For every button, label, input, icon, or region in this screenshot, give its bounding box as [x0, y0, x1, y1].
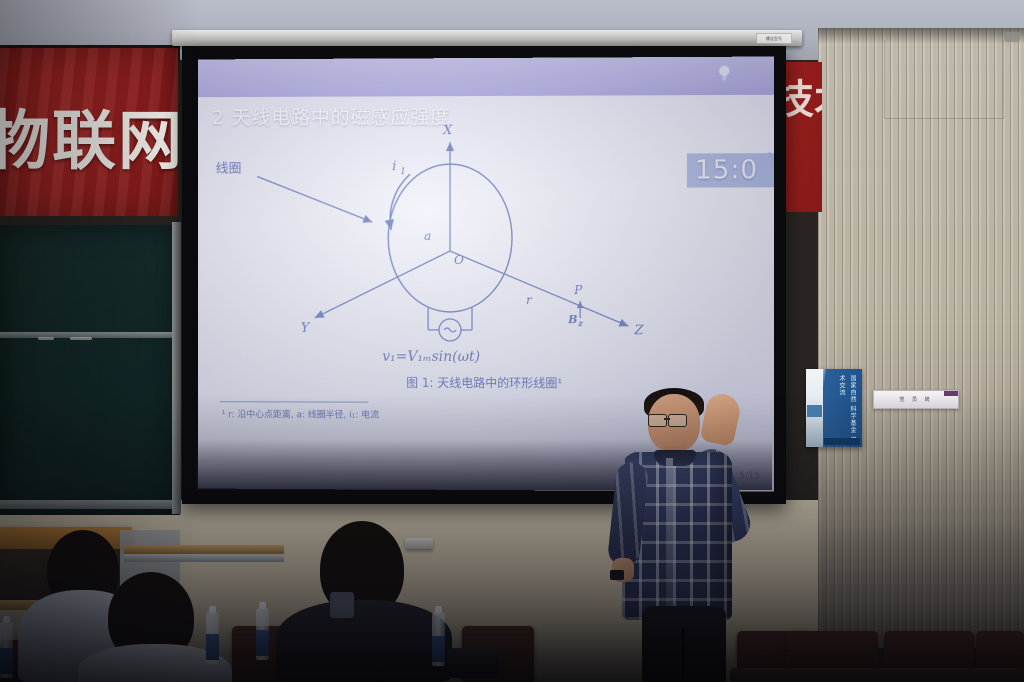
banner-right-text: 技术 — [780, 82, 822, 119]
wall-poster: 国家自然 科学基金 学术交流 — [806, 369, 862, 447]
lecture-hall-photo: 物联网工 技术 螺丝型号 2 天线电路中的磁感应强度 15: — [0, 0, 1024, 682]
slide-title-bar — [198, 57, 774, 98]
wall-signboard: 党 员 岗 — [873, 390, 959, 409]
housing-label: 螺丝型号 — [756, 33, 792, 44]
bottle-cap — [435, 606, 442, 613]
bottle-cap — [3, 616, 10, 623]
right-wall-slats — [818, 28, 1024, 648]
svg-text:O: O — [454, 253, 464, 267]
antenna-loop-coil-diagram: X Y Z O a r P i 1 B z 线圈 — [198, 117, 774, 369]
wall-mounted-box — [405, 538, 433, 549]
water-bottle — [206, 612, 219, 664]
presentation-clicker — [610, 570, 624, 580]
bottle-label — [432, 636, 445, 662]
svg-text:i: i — [392, 159, 396, 174]
footnote-divider — [220, 401, 369, 402]
red-banner-left: 物联网工 — [0, 48, 178, 216]
banner-text: 物联网工 — [0, 110, 178, 174]
svg-text:X: X — [442, 123, 453, 138]
glasses-left-lens-icon — [648, 414, 667, 427]
bottle-label — [206, 634, 219, 660]
chair-row-front — [730, 668, 1024, 682]
bottle-cap — [209, 606, 216, 613]
glasses-bridge-icon — [664, 418, 670, 420]
figure-area: X Y Z O a r P i 1 B z 线圈 — [198, 117, 774, 369]
blackboard — [0, 225, 180, 515]
presenter-raised-hand — [699, 391, 743, 447]
trouser-seam — [682, 628, 685, 682]
red-banner-right: 技术 — [780, 62, 822, 212]
svg-text:1: 1 — [400, 167, 406, 177]
svg-text:z: z — [577, 319, 583, 328]
projector-screen-housing: 螺丝型号 — [172, 30, 802, 46]
blackboard-rail-lower — [0, 500, 178, 509]
blackboard-frame-vertical — [172, 222, 181, 514]
bag-on-desk — [447, 648, 499, 678]
svg-text:a: a — [424, 229, 431, 243]
wall-access-panel — [884, 40, 1004, 119]
coil-label: 线圈 — [216, 162, 242, 177]
ceiling-sensor-icon — [1004, 32, 1020, 42]
svg-text:Z: Z — [633, 323, 644, 338]
bottle-cap — [259, 602, 266, 609]
presenter-shirt-placket — [666, 458, 673, 608]
water-bottle — [432, 612, 445, 666]
signboard-text: 党 员 岗 — [874, 391, 958, 408]
attendee-shoulders — [276, 600, 452, 682]
svg-text:r: r — [526, 293, 533, 307]
bottle-label — [256, 630, 269, 656]
source-formula: v₁=V₁ₘsin(ωt) — [382, 349, 480, 365]
bottle-label — [0, 648, 13, 674]
water-bottle — [256, 608, 269, 660]
poster-spine-band — [807, 405, 822, 417]
presenter-collar — [654, 450, 696, 466]
water-bottle — [0, 622, 13, 678]
lightbulb-icon — [717, 65, 731, 83]
svg-text:P: P — [573, 283, 583, 297]
wall-shelf-rail — [124, 554, 284, 562]
chalk-piece — [38, 337, 54, 340]
chalk-piece — [70, 337, 92, 340]
footnote-text: ¹ r: 沿中心点距离, a: 线圈半径, i₁: 电流 — [222, 407, 379, 420]
svg-text:B: B — [567, 313, 577, 326]
poster-footer — [824, 438, 860, 445]
wall-shelf — [124, 545, 284, 554]
svg-text:Y: Y — [301, 321, 311, 336]
poster-text: 国家自然 科学基金 学术交流 — [836, 375, 858, 447]
glasses-right-lens-icon — [668, 414, 687, 427]
lanyard — [330, 592, 354, 618]
